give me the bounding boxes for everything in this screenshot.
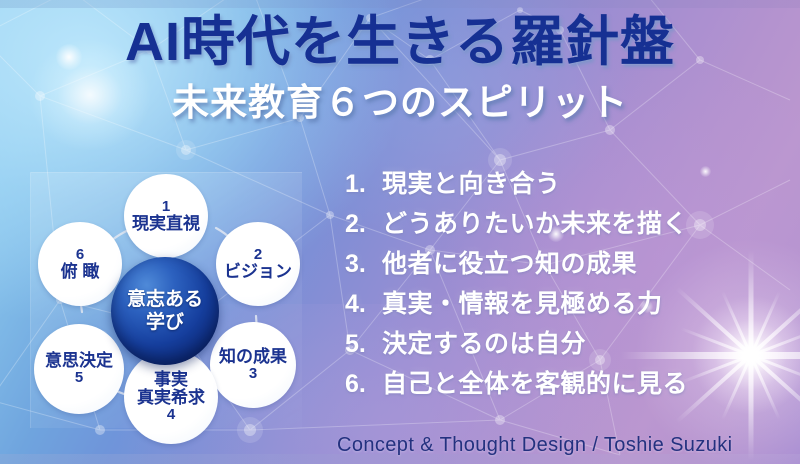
list-item: 3. 他者に役立つ知の成果 [345,252,795,277]
list-item: 1. 現実と向き合う [345,172,795,197]
spirit-diagram: 1 現実直視 2 ビジョン 知の成果 3 事実 真実希求 4 意思決定 5 6 … [20,166,320,456]
node-number: 5 [75,370,83,386]
top-band [0,0,800,8]
center-label-line1: 意志ある [127,288,203,311]
list-item-text: 現実と向き合う [382,172,561,197]
diagram-node-6[interactable]: 6 俯 瞰 [38,222,122,306]
node-label-line2: 真実希求 [137,389,205,407]
diagram-node-5[interactable]: 意思決定 5 [34,324,124,414]
diagram-node-1[interactable]: 1 現実直視 [124,174,208,258]
node-label-line1: 事実 [154,371,188,389]
node-number: 1 [162,199,170,215]
list-item-index: 6. [345,372,382,397]
list-item-index: 1. [345,172,382,197]
node-label: 現実直視 [132,215,200,233]
node-label: 俯 瞰 [61,263,100,281]
node-number: 4 [167,407,175,423]
diagram-node-2[interactable]: 2 ビジョン [216,222,300,306]
list-item-index: 5. [345,332,382,357]
center-label-line2: 学び [146,311,184,334]
node-number: 2 [254,247,262,263]
list-item-text: 他者に役立つ知の成果 [382,252,637,277]
node-label: 知の成果 [219,348,287,366]
list-item-index: 2. [345,212,382,237]
node-number: 3 [249,366,257,382]
list-item: 4. 真実・情報を見極める力 [345,292,795,317]
list-item: 5. 決定するのは自分 [345,332,795,357]
spirit-list: 1. 現実と向き合う 2. どうありたいか未来を描く 3. 他者に役立つ知の成果… [345,172,795,412]
list-item: 2. どうありたいか未来を描く [345,212,795,237]
page-subtitle: 未来教育６つのスピリット [0,83,800,124]
list-item: 6. 自己と全体を客観的に見る [345,372,795,397]
list-item-text: 自己と全体を客観的に見る [382,372,688,397]
list-item-index: 4. [345,292,382,317]
list-item-text: 真実・情報を見極める力 [382,292,663,317]
node-label: ビジョン [224,263,292,281]
diagram-center-node[interactable]: 意志ある 学び [111,257,219,365]
page-title: AI時代を生きる羅針盤 [0,14,800,71]
list-item-text: 決定するのは自分 [382,332,586,357]
node-number: 6 [76,247,84,263]
title-block: AI時代を生きる羅針盤 未来教育６つのスピリット [0,14,800,124]
credit-line: Concept & Thought Design / Toshie Suzuki [337,434,733,457]
list-item-text: どうありたいか未来を描く [382,212,688,237]
slide-canvas: AI時代を生きる羅針盤 未来教育６つのスピリット 1 現実直視 2 ビジョン [0,0,800,464]
diagram-node-3[interactable]: 知の成果 3 [210,322,296,408]
list-item-index: 3. [345,252,382,277]
node-label: 意思決定 [45,352,113,370]
